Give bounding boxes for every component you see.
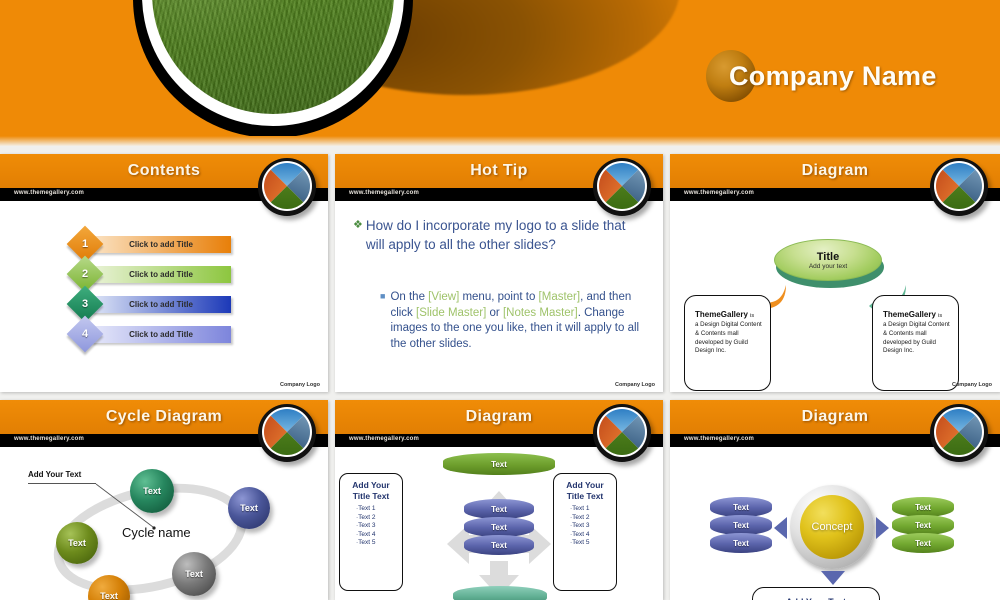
- content-number-badge-4: 4: [67, 316, 104, 353]
- slide-diagram-bubble[interactable]: Diagram www.themegallery.com Title Add y…: [670, 154, 1000, 392]
- content-label-2: Click to add Title: [129, 270, 193, 279]
- box-left-head: ThemeGallery: [695, 310, 748, 319]
- panel-left-items: ·Text 1 ·Text 2 ·Text 3 ·Text 4 ·Text 5: [356, 505, 398, 547]
- cycle-ball-2[interactable]: Text: [228, 487, 270, 529]
- hot-tip-answer: On the [View] menu, point to [Master], a…: [390, 290, 648, 352]
- slide-body: Text Text Text Text Text Text Concept A: [670, 447, 1000, 600]
- cycle-ball-4[interactable]: Text: [172, 552, 216, 596]
- content-row-1[interactable]: 1 Click to add Title: [72, 231, 231, 257]
- diamond-bullet-icon: ❖: [353, 217, 363, 254]
- cycle-ball-1[interactable]: Text: [130, 469, 174, 513]
- themegallery-logo-icon: [258, 158, 316, 216]
- panel-left-head: Add Your Title Text: [344, 480, 398, 501]
- box-right-body: a Design Digital Content & Contents mall…: [883, 321, 950, 356]
- content-label-3: Click to add Title: [129, 300, 193, 309]
- bottom-cylinder[interactable]: [453, 586, 547, 600]
- slide-body: 1 Click to add Title 2 Click to add Titl…: [0, 201, 328, 392]
- slide-url: www.themegallery.com: [14, 436, 84, 442]
- cycle-name: Cycle name: [122, 525, 191, 540]
- content-label-4: Click to add Title: [129, 330, 193, 339]
- title-bubble[interactable]: Title Add your text: [774, 239, 882, 281]
- panel-right-head: Add Your Title Text: [558, 480, 612, 501]
- top-cylinder[interactable]: Text: [443, 453, 555, 475]
- bubble-title: Title: [817, 251, 839, 263]
- slide-url: www.themegallery.com: [684, 436, 754, 442]
- square-bullet-icon: ■: [380, 290, 385, 352]
- slide-footer: Company Logo: [952, 382, 992, 388]
- themegallery-logo-icon: [258, 404, 316, 462]
- slide-title: Hot Tip: [470, 162, 528, 180]
- slide-body: Title Add your text ThemeGallery is a De…: [670, 201, 1000, 392]
- slide-body: Text Text Text Text Add Your Title Text …: [335, 447, 663, 600]
- themegallery-logo-icon: [593, 404, 651, 462]
- right-triangle-icon: [876, 517, 889, 539]
- left-triangle-icon: [774, 517, 787, 539]
- themegallery-logo-icon: [930, 158, 988, 216]
- slide-contents[interactable]: Contents www.themegallery.com 1 Click to…: [0, 154, 328, 392]
- slide-title: Diagram: [802, 162, 869, 180]
- slide-grid: Contents www.themegallery.com 1 Click to…: [0, 146, 1000, 600]
- hot-tip-answer-row: ■ On the [View] menu, point to [Master],…: [380, 290, 648, 352]
- slide-body: ❖ How do I incorporate my logo to a slid…: [335, 201, 663, 392]
- slide-url: www.themegallery.com: [14, 190, 84, 196]
- slide-title: Diagram: [802, 408, 869, 426]
- slide-footer: Company Logo: [280, 382, 320, 388]
- themegallery-logo-icon: [930, 404, 988, 462]
- theme-box-right[interactable]: ThemeGallery is a Design Digital Content…: [872, 295, 959, 391]
- slide-url: www.themegallery.com: [349, 436, 419, 442]
- slide-title: Contents: [128, 162, 201, 180]
- slide-hot-tip[interactable]: Hot Tip www.themegallery.com ❖ How do I …: [335, 154, 663, 392]
- panel-right-items: ·Text 1 ·Text 2 ·Text 3 ·Text 4 ·Text 5: [570, 505, 612, 547]
- content-bar-3[interactable]: Click to add Title: [91, 296, 231, 313]
- down-triangle-icon: [821, 571, 845, 585]
- company-name-block: Company Name: [706, 50, 937, 102]
- left-stack-2[interactable]: Text: [710, 515, 772, 535]
- cycle-ball-3[interactable]: Text: [56, 522, 98, 564]
- cycle-callout-label: Add Your Text: [28, 470, 81, 479]
- content-bar-4[interactable]: Click to add Title: [91, 326, 231, 343]
- left-stack-1[interactable]: Text: [710, 497, 772, 517]
- content-bar-2[interactable]: Click to add Title: [91, 266, 231, 283]
- content-bar-1[interactable]: Click to add Title: [91, 236, 231, 253]
- panel-left[interactable]: Add Your Title Text ·Text 1 ·Text 2 ·Tex…: [339, 473, 403, 591]
- cycle-callout-line: [28, 483, 96, 484]
- concept-label: Concept: [812, 521, 853, 533]
- content-row-2[interactable]: 2 Click to add Title: [72, 261, 231, 287]
- concept-circle[interactable]: Concept: [800, 495, 864, 559]
- slide-diagram-concept[interactable]: Diagram www.themegallery.com Text Text T…: [670, 400, 1000, 600]
- themegallery-logo-icon: [593, 158, 651, 216]
- slide-body: Add Your Text Cycle name Text Text Text …: [0, 447, 328, 600]
- theme-box-left[interactable]: ThemeGallery is a Design Digital Content…: [684, 295, 771, 391]
- slide-title: Diagram: [466, 408, 533, 426]
- top-banner: Company Name: [0, 0, 1000, 146]
- slide-diagram-cylinders[interactable]: Diagram www.themegallery.com Text Text: [335, 400, 663, 600]
- right-stack-2[interactable]: Text: [892, 515, 954, 535]
- right-stack-1[interactable]: Text: [892, 497, 954, 517]
- slide-url: www.themegallery.com: [349, 190, 419, 196]
- right-stack-3[interactable]: Text: [892, 533, 954, 553]
- bubble-subtitle: Add your text: [809, 263, 847, 270]
- box-right-head: ThemeGallery: [883, 310, 936, 319]
- grass-photo-circle: [133, 0, 413, 138]
- box-left-body: a Design Digital Content & Contents mall…: [695, 321, 762, 356]
- hot-tip-question-row: ❖ How do I incorporate my logo to a slid…: [353, 217, 645, 254]
- box-right-head-small: is: [938, 313, 942, 319]
- slide-title: Cycle Diagram: [106, 408, 222, 426]
- center-cylinder-3[interactable]: Text: [464, 535, 534, 555]
- content-label-1: Click to add Title: [129, 240, 193, 249]
- slide-footer: Company Logo: [615, 382, 655, 388]
- center-cylinder-2[interactable]: Text: [464, 517, 534, 537]
- box-left-head-small: is: [750, 313, 754, 319]
- slide-url: www.themegallery.com: [684, 190, 754, 196]
- left-stack-3[interactable]: Text: [710, 533, 772, 553]
- hot-tip-question: How do I incorporate my logo to a slide …: [366, 217, 645, 254]
- content-row-4[interactable]: 4 Click to add Title: [72, 321, 231, 347]
- panel-right[interactable]: Add Your Title Text ·Text 1 ·Text 2 ·Tex…: [553, 473, 617, 591]
- center-cylinder-1[interactable]: Text: [464, 499, 534, 519]
- bottom-text-box[interactable]: Add Your Text: [752, 587, 880, 600]
- content-row-3[interactable]: 3 Click to add Title: [72, 291, 231, 317]
- slide-cycle-diagram[interactable]: Cycle Diagram www.themegallery.com Add Y…: [0, 400, 328, 600]
- company-name: Company Name: [729, 61, 937, 92]
